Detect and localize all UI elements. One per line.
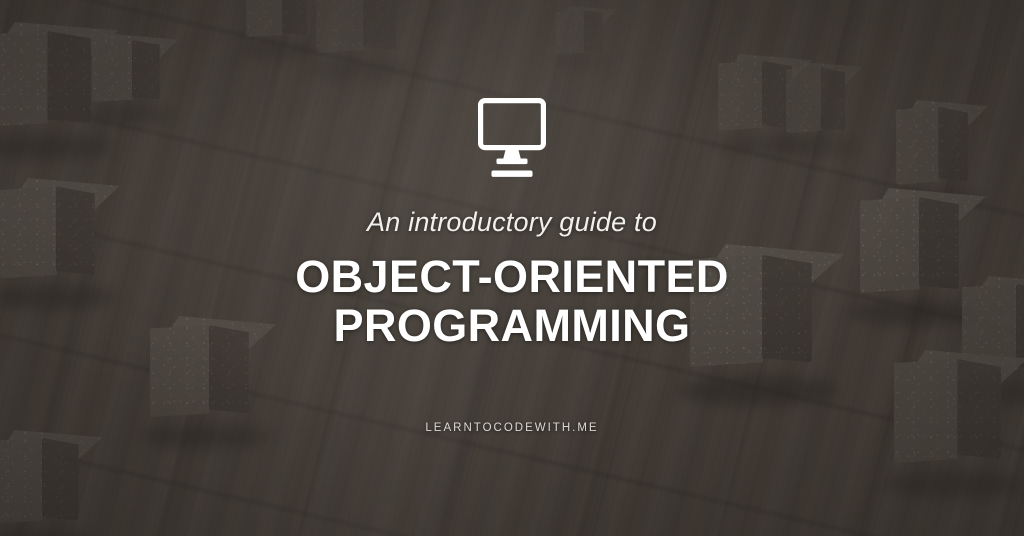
promo-banner: An introductory guide to OBJECT-ORIENTED…	[0, 0, 1024, 536]
eyebrow-text: An introductory guide to	[367, 209, 657, 236]
page-title: OBJECT-ORIENTED PROGRAMMING	[295, 253, 729, 350]
banner-content: An introductory guide to OBJECT-ORIENTED…	[0, 0, 1024, 536]
headline-line-2: PROGRAMMING	[295, 302, 729, 351]
headline-line-1: OBJECT-ORIENTED	[295, 253, 729, 302]
monitor-icon	[478, 98, 546, 178]
site-url: LEARNTOCODEWITH.ME	[425, 422, 598, 434]
